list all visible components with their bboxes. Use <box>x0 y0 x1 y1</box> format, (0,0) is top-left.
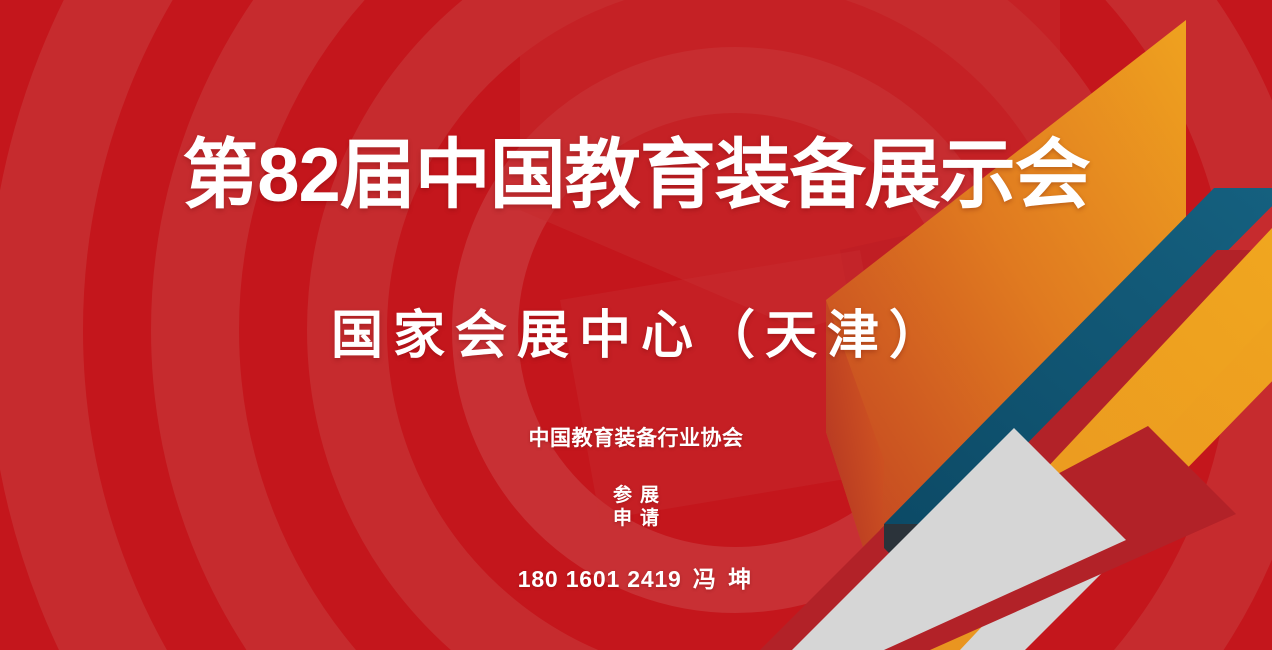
contact-phone: 180 1601 2419 <box>518 566 682 592</box>
exhibition-banner: 第82届中国教育装备展示会 国家会展中心（天津） 中国教育装备行业协会 参展 申… <box>0 0 1272 650</box>
apply-block[interactable]: 参展 申请 <box>0 484 1272 530</box>
apply-line-2: 申请 <box>0 507 1272 530</box>
contact-line[interactable]: 180 1601 2419 冯 坤 <box>0 568 1272 591</box>
association-name: 中国教育装备行业协会 <box>0 428 1272 449</box>
apply-line-1: 参展 <box>0 484 1272 507</box>
event-title: 第82届中国教育装备展示会 <box>0 138 1272 214</box>
contact-person: 冯 坤 <box>693 566 754 592</box>
venue-subtitle: 国家会展中心（天津） <box>0 310 1272 362</box>
